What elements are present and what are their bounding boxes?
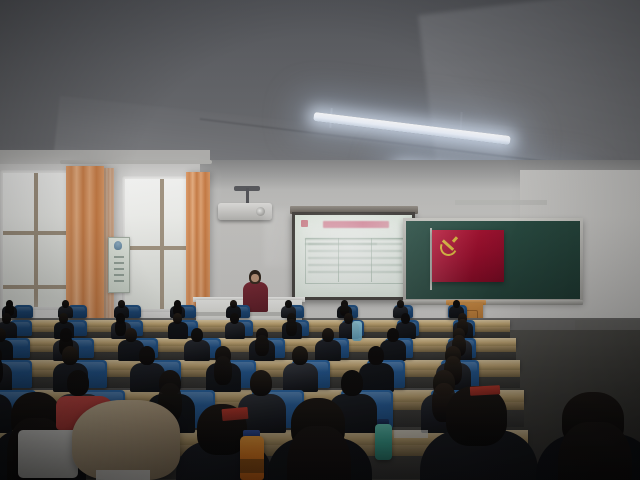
vignette bbox=[0, 0, 640, 480]
classroom-photo bbox=[0, 0, 640, 480]
